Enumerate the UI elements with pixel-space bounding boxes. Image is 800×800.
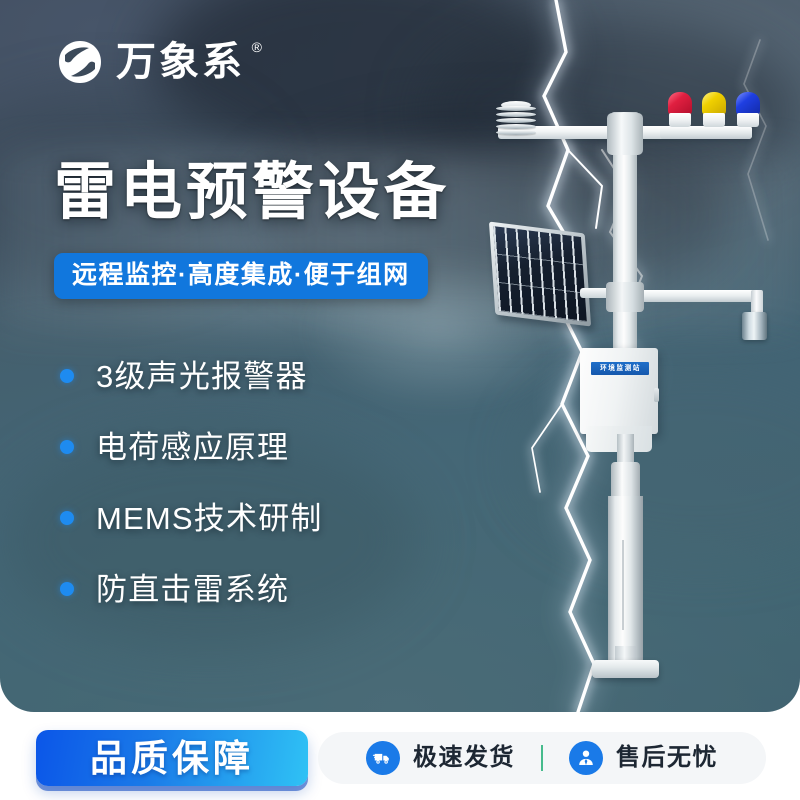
list-item: 3级声光报警器: [60, 345, 323, 407]
trust-bar: 品质保障 极速发货: [0, 712, 800, 800]
service-label: 售后无忧: [616, 746, 718, 770]
feature-label: MEMS技术研制: [96, 503, 323, 534]
brand-name-text: 万象系: [116, 40, 245, 84]
feature-label: 防直击雷系统: [96, 574, 289, 605]
delivery-truck-icon: [366, 741, 400, 775]
subtitle-badge: 远程监控·高度集成·便于组网: [54, 253, 428, 299]
brand-name: 万象系®: [116, 42, 245, 82]
service-fast-shipping: 极速发货: [340, 741, 541, 775]
list-item: 防直击雷系统: [60, 558, 323, 620]
page-title: 雷电预警设备: [54, 160, 450, 225]
bullet-dot-icon: [60, 369, 74, 383]
feature-label: 3级声光报警器: [96, 361, 308, 392]
feature-list: 3级声光报警器 电荷感应原理 MEMS技术研制 防直击雷系统: [60, 345, 323, 629]
feature-label: 电荷感应原理: [96, 432, 289, 463]
service-features: 极速发货 售后无忧: [318, 732, 766, 784]
quality-guarantee-badge: 品质保障: [36, 730, 308, 786]
bullet-dot-icon: [60, 440, 74, 454]
support-agent-icon: [569, 741, 603, 775]
product-poster: 环境监测站 万象系® 雷电预警设备 远程监控·高度集成·便于组网 3级声光报警器: [0, 0, 800, 800]
service-divider: [541, 745, 543, 771]
service-after-sales: 售后无忧: [543, 741, 744, 775]
bullet-dot-icon: [60, 511, 74, 525]
quality-guarantee-label: 品质保障: [90, 740, 254, 777]
trademark-symbol: ®: [252, 40, 262, 54]
list-item: MEMS技术研制: [60, 487, 323, 549]
list-item: 电荷感应原理: [60, 416, 323, 478]
bullet-dot-icon: [60, 582, 74, 596]
brand-logo: 万象系®: [56, 38, 245, 86]
swoosh-sphere-logo-icon: [56, 38, 104, 86]
service-label: 极速发货: [413, 746, 515, 770]
